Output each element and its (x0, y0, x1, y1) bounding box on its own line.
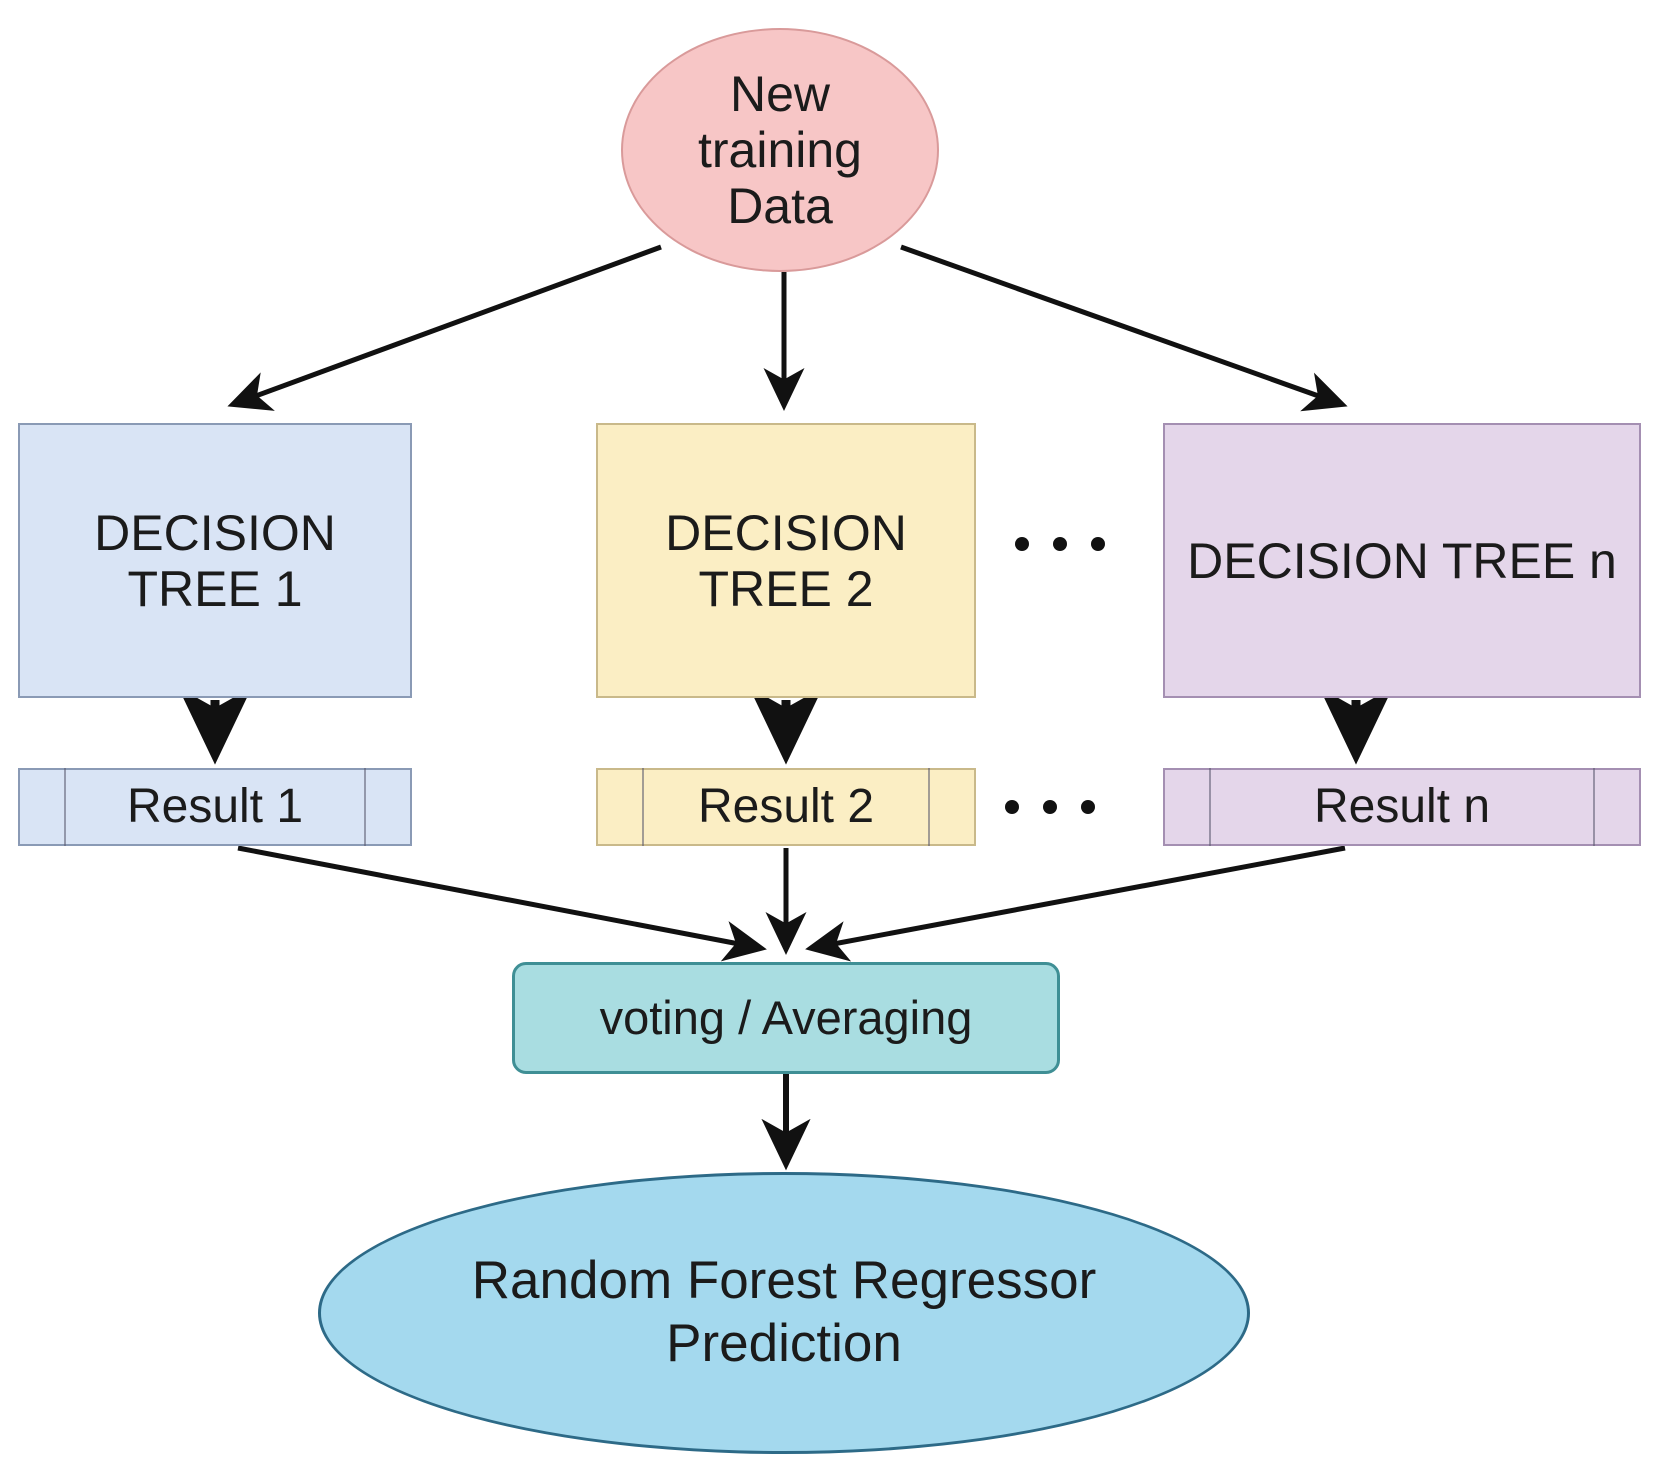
node-result-2[interactable]: Result 2 (596, 768, 976, 846)
node-voting-averaging-label: voting / Averaging (600, 992, 973, 1045)
node-voting-averaging[interactable]: voting / Averaging (512, 962, 1060, 1074)
node-result-2-label: Result 2 (698, 780, 874, 834)
node-decision-tree-2-label: DECISION TREE 2 (608, 505, 964, 617)
edge-root-to-tree-n (901, 247, 1341, 404)
ellipsis-dot (1053, 537, 1067, 551)
node-new-training-data[interactable]: New training Data (621, 28, 939, 272)
ellipsis-dot (1015, 537, 1029, 551)
node-decision-tree-2[interactable]: DECISION TREE 2 (596, 423, 976, 698)
node-result-1[interactable]: Result 1 (18, 768, 412, 846)
node-random-forest-prediction-label: Random Forest Regressor Prediction (381, 1250, 1187, 1375)
node-result-1-label: Result 1 (127, 780, 303, 834)
ellipsis-between-trees (1015, 537, 1105, 551)
node-random-forest-prediction[interactable]: Random Forest Regressor Prediction (318, 1172, 1250, 1454)
ellipsis-between-results (1005, 800, 1095, 814)
node-new-training-data-label: New training Data (647, 66, 913, 234)
ellipsis-dot (1005, 800, 1019, 814)
node-result-n[interactable]: Result n (1163, 768, 1641, 846)
node-decision-tree-1[interactable]: DECISION TREE 1 (18, 423, 412, 698)
node-decision-tree-n[interactable]: DECISION TREE n (1163, 423, 1641, 698)
node-result-n-label: Result n (1314, 780, 1490, 834)
ellipsis-dot (1081, 800, 1095, 814)
edge-result-n-to-voting (812, 848, 1345, 948)
node-decision-tree-n-label: DECISION TREE n (1187, 533, 1617, 589)
edge-root-to-tree-1 (234, 247, 661, 404)
ellipsis-dot (1091, 537, 1105, 551)
edge-result-1-to-voting (238, 848, 760, 948)
node-decision-tree-1-label: DECISION TREE 1 (30, 505, 400, 617)
ellipsis-dot (1043, 800, 1057, 814)
diagram-canvas: New training Data DECISION TREE 1 DECISI… (0, 0, 1666, 1470)
